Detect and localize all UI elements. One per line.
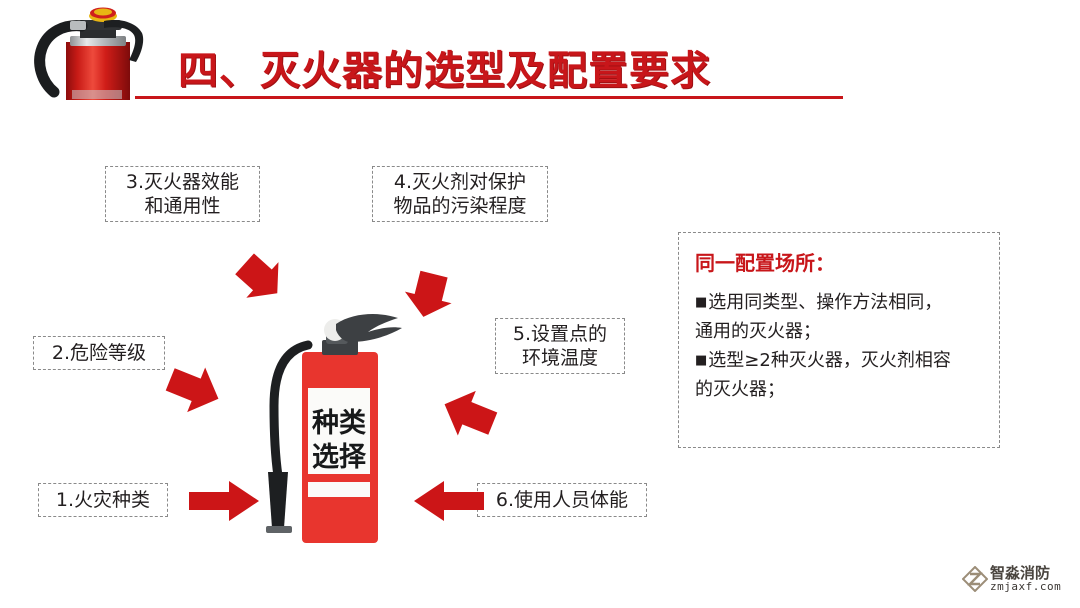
panel-line-2: 通用的灭火器； <box>695 317 985 346</box>
factor-box-4-line-1: 4.灭火剂对保护 <box>393 170 526 194</box>
factor-box-3: 3.灭火器效能 和通用性 <box>105 166 260 222</box>
watermark-url: zmjaxf.com <box>990 580 1061 593</box>
panel-line-1: ■选用同类型、操作方法相同， <box>695 288 985 317</box>
panel-title: 同一配置场所： <box>695 247 985 276</box>
extinguisher-label-line-1: 种类 <box>312 408 366 439</box>
arrow-from-box6-icon <box>408 478 488 524</box>
factor-box-5: 5.设置点的 环境温度 <box>495 318 625 374</box>
factor-box-1: 1.火灾种类 <box>38 483 168 517</box>
panel-line-3-text: 选型≥2种灭火器，灭火剂相容 <box>708 350 951 371</box>
extinguisher-label-line-2: 选择 <box>312 442 367 473</box>
same-site-requirements-panel: 同一配置场所： ■选用同类型、操作方法相同， 通用的灭火器； ■选型≥2种灭火器… <box>678 232 1000 448</box>
factor-box-6: 6.使用人员体能 <box>477 483 647 517</box>
factor-box-4-line-2: 物品的污染程度 <box>393 194 526 218</box>
factor-box-3-line-1: 3.灭火器效能 <box>126 170 239 194</box>
panel-line-4: 的灭火器； <box>695 375 985 404</box>
bullet-icon-2: ■ <box>695 353 707 368</box>
extinguisher-illustration: 种类 选择 <box>250 310 420 560</box>
fire-extinguisher-photo <box>8 0 184 100</box>
factor-box-4: 4.灭火剂对保护 物品的污染程度 <box>372 166 548 222</box>
panel-line-4-text: 的灭火器； <box>695 379 785 400</box>
arrow-from-box2-icon <box>148 355 238 435</box>
watermark: 智淼消防 zmjaxf.com <box>962 562 1074 602</box>
watermark-logo-icon <box>962 566 988 592</box>
factor-box-5-line-2: 环境温度 <box>513 346 607 370</box>
factor-box-3-line-2: 和通用性 <box>126 194 239 218</box>
factor-box-2-line-1: 2.危险等级 <box>52 341 146 365</box>
factor-box-2: 2.危险等级 <box>33 336 165 370</box>
factor-box-5-line-1: 5.设置点的 <box>513 322 607 346</box>
title-underline <box>135 96 843 99</box>
bullet-icon-1: ■ <box>695 295 707 310</box>
factor-box-6-line-1: 6.使用人员体能 <box>496 488 628 512</box>
slide-canvas: 四、灭火器的选型及配置要求 3.灭火器效能 和通用性 4.灭火剂对保护 物品的污… <box>0 0 1080 608</box>
factor-box-1-line-1: 1.火灾种类 <box>56 488 150 512</box>
panel-line-1-text: 选用同类型、操作方法相同， <box>708 292 942 313</box>
arrow-from-box5-icon <box>425 368 515 448</box>
panel-line-2-text: 通用的灭火器； <box>695 321 821 342</box>
page-title: 四、灭火器的选型及配置要求 <box>178 38 711 96</box>
panel-line-3: ■选型≥2种灭火器，灭火剂相容 <box>695 346 985 375</box>
